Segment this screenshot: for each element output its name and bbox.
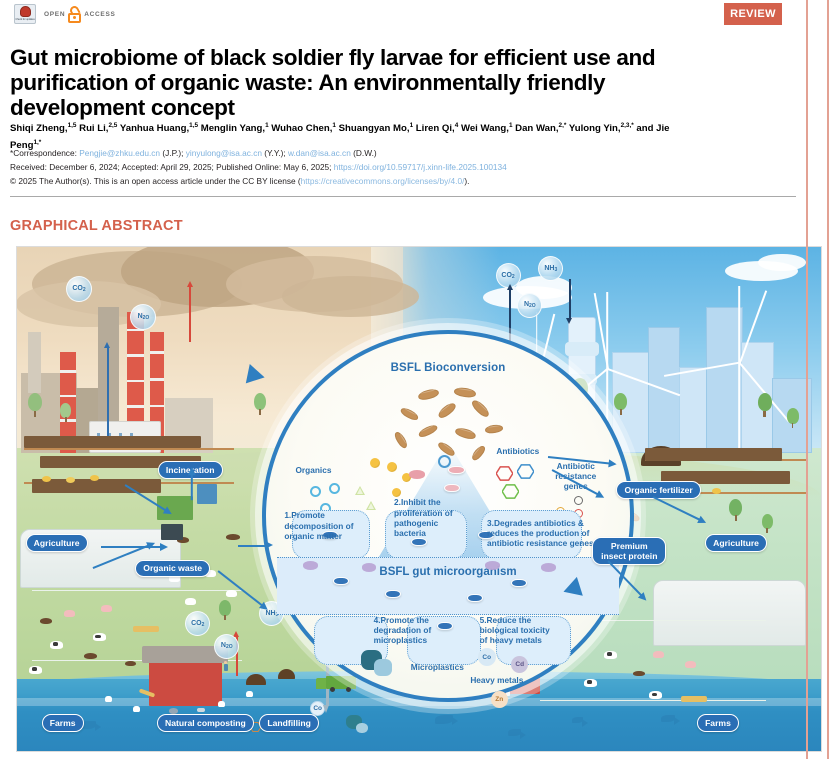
correspondence-line: *Correspondence: Pengjie@zhku.edu.cn (J.… bbox=[10, 148, 690, 160]
tree-icon bbox=[219, 600, 231, 620]
correspondence-initials-2: (Y.Y.); bbox=[264, 148, 285, 158]
heavy-metal-zn: Zn bbox=[491, 691, 508, 708]
tree-icon bbox=[28, 393, 42, 417]
composting-worker bbox=[222, 661, 230, 675]
gut-microbe-icon bbox=[385, 590, 401, 598]
label-farms-right[interactable]: Farms bbox=[697, 714, 739, 732]
open-lock-icon bbox=[68, 6, 81, 23]
copyright-text: © 2025 The Author(s). This is an open ac… bbox=[10, 176, 301, 186]
author-item: Yanhua Huang,1,5 bbox=[120, 123, 198, 134]
correspondence-initials-3: (D.W.) bbox=[353, 148, 377, 158]
section-heading-graphical-abstract: GRAPHICAL ABSTRACT bbox=[10, 218, 183, 234]
label-organic-fertilizer[interactable]: Organic fertilizer bbox=[616, 481, 700, 499]
emission-down-arrow bbox=[569, 279, 571, 319]
chicken-coop bbox=[149, 661, 222, 707]
check-badge-label: Check for updates bbox=[15, 18, 35, 21]
license-link[interactable]: https://creativecommons.org/licenses/by/… bbox=[301, 176, 465, 186]
gut-microorganism-title: BSFL gut microorganism bbox=[262, 566, 634, 578]
correspondence-label: *Correspondence: bbox=[10, 148, 77, 158]
label-agriculture-right[interactable]: Agriculture bbox=[705, 534, 767, 552]
tree-icon bbox=[762, 514, 773, 533]
gas-bubble-n2o-compost: N2O bbox=[214, 634, 239, 659]
author-item: Yulong Yin,2,3,* bbox=[569, 123, 634, 134]
author-item: Shiqi Zheng,1,5 bbox=[10, 123, 76, 134]
water-microplastic bbox=[197, 708, 205, 712]
label-landfilling[interactable]: Landfilling bbox=[259, 714, 318, 732]
bsfl-bioconversion-circle: BSFL Bioconversion Organics bbox=[262, 330, 634, 702]
microplastics-label: Microplastics bbox=[411, 663, 464, 673]
tree-icon bbox=[758, 393, 772, 417]
circle-step-4: 4.Promote the degradation of microplasti… bbox=[374, 615, 446, 646]
author-item: Menglin Yang,1 bbox=[201, 123, 269, 134]
flow-arrow-waste-to-incineration bbox=[191, 474, 193, 500]
correspondence-email-2[interactable]: yinyulong@isa.ac.cn bbox=[186, 148, 262, 158]
crop-row bbox=[645, 448, 782, 460]
label-farms-left[interactable]: Farms bbox=[42, 714, 84, 732]
manure-pile bbox=[125, 661, 136, 666]
sheep-icon bbox=[226, 590, 237, 597]
crossmark-icon bbox=[20, 6, 31, 17]
pig-icon bbox=[101, 605, 112, 612]
chicken-icon bbox=[105, 696, 112, 702]
waste-container bbox=[161, 524, 183, 540]
label-natural-composting[interactable]: Natural composting bbox=[157, 714, 254, 732]
top-bar: Check for updates OPEN ACCESS REVIEW bbox=[8, 2, 798, 28]
organic-triangle-icon bbox=[366, 501, 376, 510]
pig-icon bbox=[685, 661, 696, 668]
gut-microbe-icon bbox=[333, 577, 349, 585]
article-page: Check for updates OPEN ACCESS REVIEW Gut… bbox=[0, 0, 830, 759]
emission-arrow-red bbox=[189, 286, 191, 342]
check-for-updates-badge[interactable]: Check for updates bbox=[14, 4, 36, 24]
organics-label: Organics bbox=[295, 466, 331, 476]
city-building bbox=[679, 367, 708, 453]
author-item: Wuhao Chen,1 bbox=[271, 123, 336, 134]
header-divider bbox=[10, 196, 796, 197]
circle-step-1: 1.Promote decomposition of organic matte… bbox=[284, 510, 364, 541]
page-title: Gut microbiome of black soldier fly larv… bbox=[10, 45, 710, 120]
tree-icon bbox=[60, 403, 71, 422]
feed-trough bbox=[133, 626, 159, 632]
manure-pile bbox=[40, 618, 52, 624]
factory-chimney bbox=[28, 332, 41, 393]
author-item: Wei Wang,1 bbox=[461, 123, 513, 134]
feed-trough bbox=[681, 696, 707, 702]
publication-dates: Received: December 6, 2024; Accepted: Ap… bbox=[10, 162, 331, 172]
gut-microbe-icon bbox=[467, 594, 483, 602]
cow-icon bbox=[50, 641, 63, 649]
antibiotics-label: Antibiotics bbox=[496, 447, 539, 457]
cow-icon bbox=[649, 691, 662, 699]
pig-icon bbox=[653, 651, 664, 658]
circle-step-3: 3.Degrades antibiotics & reduces the pro… bbox=[487, 518, 605, 549]
author-item: Rui Li,2,5 bbox=[79, 123, 117, 134]
heavy-metals-label: Heavy metals bbox=[470, 676, 523, 686]
gut-microbe-icon bbox=[541, 563, 556, 572]
author-item: Dan Wan,2,* bbox=[515, 123, 566, 134]
emission-arrow-blue bbox=[107, 347, 109, 448]
rail-line-left bbox=[806, 0, 808, 759]
circle-step-5: 5.Reduce the biological toxicity of heav… bbox=[480, 615, 556, 646]
gut-microbe-icon bbox=[303, 561, 318, 570]
article-meta: *Correspondence: Pengjie@zhku.edu.cn (J.… bbox=[10, 148, 690, 188]
organic-triangle-icon bbox=[355, 486, 365, 495]
open-access-label-access: ACCESS bbox=[84, 11, 115, 18]
copyright-suffix: ). bbox=[464, 176, 469, 186]
organic-ring-icon bbox=[329, 483, 340, 494]
antibiotic-resistance-genes-label: Antibiotic resistance genes bbox=[545, 462, 607, 491]
pumpkin-icon bbox=[42, 476, 51, 482]
organic-particle-icon bbox=[387, 462, 397, 472]
arg-ring-icon bbox=[574, 496, 583, 505]
pathogenic-bacteria-icon bbox=[409, 470, 425, 479]
antibiotic-hexagon-icon bbox=[517, 464, 534, 479]
gut-microbe-icon bbox=[362, 563, 376, 572]
manure-pile bbox=[633, 671, 645, 676]
heavy-metal-co: Co bbox=[478, 648, 496, 666]
chicken-icon bbox=[246, 691, 253, 697]
fish-icon bbox=[508, 729, 521, 736]
fish-icon bbox=[572, 717, 583, 723]
cow-icon bbox=[93, 633, 106, 641]
flow-arrow-waste-to-circle bbox=[238, 545, 266, 547]
circle-top-title: BSFL Bioconversion bbox=[262, 362, 634, 374]
author-conjunction: and bbox=[636, 123, 653, 134]
antibiotic-hexagon-icon bbox=[502, 484, 519, 499]
tree-icon bbox=[787, 408, 799, 428]
cloud bbox=[758, 254, 806, 272]
crop-row bbox=[24, 436, 201, 448]
crop-row bbox=[32, 479, 161, 493]
open-access-logo: OPEN ACCESS bbox=[44, 6, 116, 23]
doi-link[interactable]: https://doi.org/10.59717/j.xinn-life.202… bbox=[334, 162, 507, 172]
publication-dates-line: Received: December 6, 2024; Accepted: Ap… bbox=[10, 162, 690, 174]
microplastic-particle-icon bbox=[374, 659, 392, 676]
author-item: Liren Qi,4 bbox=[416, 123, 458, 134]
pig-icon bbox=[64, 610, 75, 617]
copyright-line: © 2025 The Author(s). This is an open ac… bbox=[10, 176, 690, 188]
article-type-badge: REVIEW bbox=[724, 3, 782, 25]
pumpkin-icon bbox=[66, 477, 75, 483]
gut-microbe-icon bbox=[485, 561, 500, 570]
label-agriculture-left[interactable]: Agriculture bbox=[26, 534, 88, 552]
gas-bubble-n2o-right: N2O bbox=[517, 293, 542, 318]
heavy-metal-cd: Cd bbox=[511, 656, 528, 673]
recycling-bin bbox=[197, 484, 217, 504]
tree-icon bbox=[729, 499, 742, 521]
chicken-icon bbox=[133, 706, 140, 712]
page-content: Check for updates OPEN ACCESS REVIEW Gut… bbox=[8, 0, 798, 759]
waste-pile bbox=[226, 534, 240, 540]
author-item: Shuangyan Mo,1 bbox=[339, 123, 413, 134]
label-organic-waste[interactable]: Organic waste bbox=[135, 560, 210, 578]
label-premium-insect-protein[interactable]: Premium insect protein bbox=[592, 537, 666, 565]
magnifier-icon bbox=[438, 455, 451, 468]
water-microplastic-cluster bbox=[356, 723, 368, 733]
cow-icon bbox=[29, 666, 42, 674]
fish-icon bbox=[661, 715, 675, 722]
correspondence-initials-1: (J.P.); bbox=[162, 148, 183, 158]
gut-microbe-icon bbox=[411, 538, 427, 546]
wind-turbine bbox=[725, 286, 753, 453]
manure-pile bbox=[84, 653, 97, 659]
circle-step-2: 2.Inhibit the proliferation of pathogeni… bbox=[394, 497, 464, 538]
pathogenic-bacteria-icon bbox=[448, 466, 465, 474]
journal-rail: The Innovation Life bbox=[805, 0, 830, 759]
open-access-label-open: OPEN bbox=[44, 11, 65, 18]
correspondence-email-1[interactable]: Pengjie@zhku.edu.cn bbox=[79, 148, 160, 158]
graphical-abstract-figure: Co CO2 N2O bbox=[16, 246, 822, 752]
antibiotic-hexagon-icon bbox=[496, 466, 513, 481]
correspondence-email-3[interactable]: w.dan@isa.ac.cn bbox=[288, 148, 351, 158]
smog-cloud bbox=[282, 276, 419, 316]
chicken-icon bbox=[218, 701, 225, 707]
pumpkin-icon bbox=[90, 475, 99, 481]
sheep-icon bbox=[185, 598, 196, 605]
